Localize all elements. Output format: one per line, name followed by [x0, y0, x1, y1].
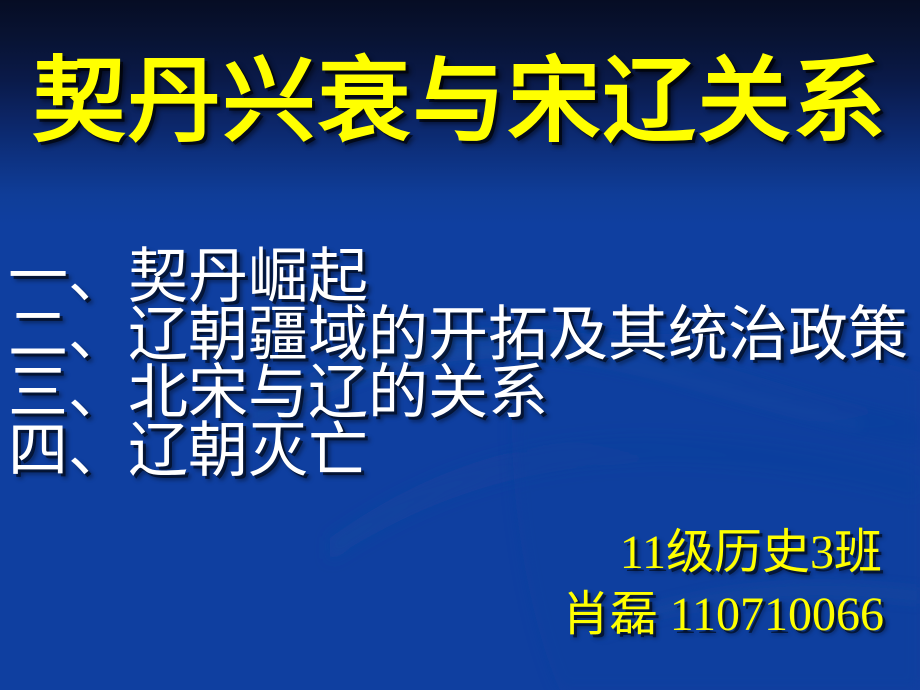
outline-item-4: 四、辽朝灭亡 [8, 422, 912, 480]
presentation-slide: 契丹兴衰与宋辽关系 一、契丹崛起 二、辽朝疆域的开拓及其统治政策 三、北宋与辽的… [0, 0, 920, 690]
outline-item-3: 三、北宋与辽的关系 [8, 364, 912, 422]
author-block: 11级历史3班 肖磊 110710066 [562, 522, 884, 646]
outline-item-2: 二、辽朝疆域的开拓及其统治政策 [8, 306, 912, 364]
outline-list: 一、契丹崛起 二、辽朝疆域的开拓及其统治政策 三、北宋与辽的关系 四、辽朝灭亡 [8, 248, 912, 480]
author-label: 肖磊 110710066 [562, 584, 884, 646]
slide-title: 契丹兴衰与宋辽关系 [0, 54, 920, 152]
class-label: 11级历史3班 [562, 522, 884, 584]
outline-item-1: 一、契丹崛起 [8, 248, 912, 306]
